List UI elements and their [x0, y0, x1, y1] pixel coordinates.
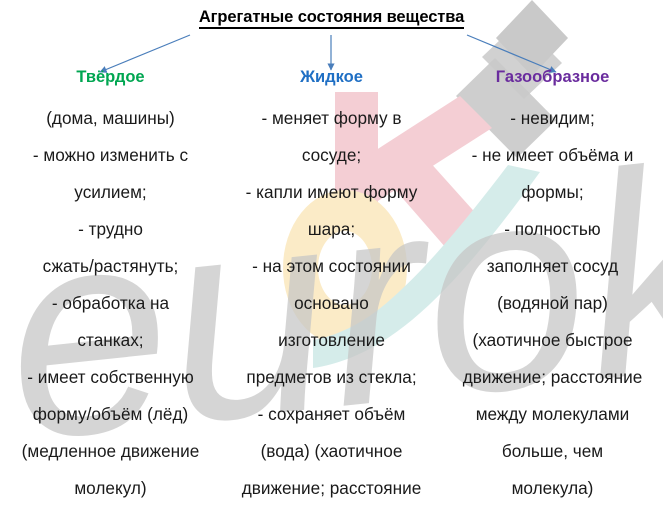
list-item: формы;	[450, 174, 655, 211]
list-item: сжать/растянуть;	[8, 248, 213, 285]
list-item: - на этом состоянии	[229, 248, 434, 285]
list-item: - невидим;	[450, 100, 655, 137]
page-title: Агрегатные состояния вещества	[0, 8, 663, 27]
list-item: (дома, машины)	[8, 100, 213, 137]
list-item: между молекулами	[229, 507, 434, 519]
list-item: заполняет сосуд	[450, 248, 655, 285]
list-item: между молекулами	[450, 396, 655, 433]
list-item: - трудно	[8, 211, 213, 248]
diagram-content: Агрегатные состояния вещества Твёрдое (д…	[0, 0, 663, 519]
list-item: изготовление	[229, 322, 434, 359]
list-item: молекула)	[450, 470, 655, 507]
column-lines-gas: - невидим; - не имеет объёма и формы; - …	[442, 100, 663, 507]
slide-canvas: euroki Агрегатные состояния вещества Твё…	[0, 0, 663, 519]
column-lines-liquid: - меняет форму в сосуде; - капли имеют ф…	[221, 100, 442, 519]
list-item: (водяной пар)	[450, 285, 655, 322]
column-lines-solid: (дома, машины) - можно изменить с усилие…	[0, 100, 221, 507]
list-item: - имеет собственную	[8, 359, 213, 396]
column-header-gas: Газообразное	[442, 66, 663, 88]
list-item: (хаотичное быстрое	[450, 322, 655, 359]
page-title-text: Агрегатные состояния вещества	[199, 8, 464, 29]
column-solid: Твёрдое (дома, машины) - можно изменить …	[0, 66, 221, 507]
list-item: форму/объём (лёд)	[8, 396, 213, 433]
list-item: (медленное движение	[8, 433, 213, 470]
list-item: шара;	[229, 211, 434, 248]
list-item: движение; расстояние	[229, 470, 434, 507]
list-item: усилием;	[8, 174, 213, 211]
list-item: - капли имеют форму	[229, 174, 434, 211]
list-item: (вода) (хаотичное	[229, 433, 434, 470]
list-item: молекул)	[8, 470, 213, 507]
list-item: - обработка на	[8, 285, 213, 322]
list-item: движение; расстояние	[450, 359, 655, 396]
list-item: - не имеет объёма и	[450, 137, 655, 174]
list-item: - можно изменить с	[8, 137, 213, 174]
list-item: - сохраняет объём	[229, 396, 434, 433]
list-item: сосуде;	[229, 137, 434, 174]
states-columns: Твёрдое (дома, машины) - можно изменить …	[0, 66, 663, 519]
list-item: - меняет форму в	[229, 100, 434, 137]
list-item: основано	[229, 285, 434, 322]
column-header-liquid: Жидкое	[221, 66, 442, 88]
column-gas: Газообразное - невидим; - не имеет объём…	[442, 66, 663, 507]
list-item: больше, чем	[450, 433, 655, 470]
column-liquid: Жидкое - меняет форму в сосуде; - капли …	[221, 66, 442, 519]
column-header-solid: Твёрдое	[0, 66, 221, 88]
list-item: предметов из стекла;	[229, 359, 434, 396]
list-item: - полностью	[450, 211, 655, 248]
list-item: станках;	[8, 322, 213, 359]
